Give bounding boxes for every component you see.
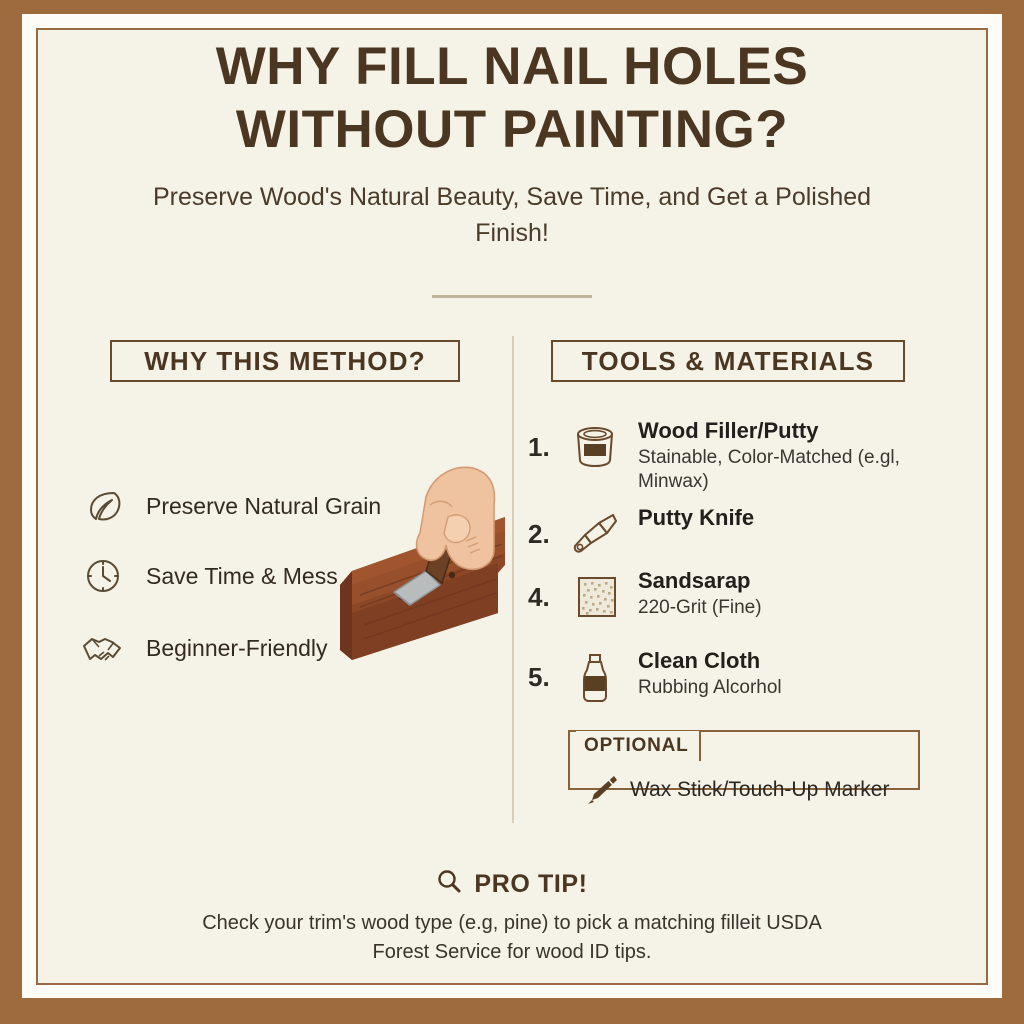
tool-row-clean-cloth: 5. Clean Cloth Rubbing Alcorhol bbox=[528, 648, 928, 706]
putty-knife-icon bbox=[564, 505, 626, 557]
tool-name: Sandsarap bbox=[638, 568, 751, 593]
tool-text: Wood Filler/Putty Stainable, Color-Match… bbox=[638, 418, 916, 494]
header-divider bbox=[432, 295, 592, 298]
bottle-icon bbox=[564, 648, 626, 706]
page-title: WHY FILL NAIL HOLES WITHOUT PAINTING? bbox=[102, 36, 922, 161]
pro-tip-heading: PRO TIP! bbox=[436, 868, 587, 901]
leaf-icon bbox=[80, 483, 126, 529]
tool-desc: Rubbing Alcorhol bbox=[638, 676, 782, 700]
page-subtitle: Preserve Wood's Natural Beauty, Save Tim… bbox=[132, 179, 892, 252]
section-heading-tools-and-materials: TOOLS & MATERIALS bbox=[551, 340, 905, 382]
pro-tip-body: Check your trim's wood type (e.g, pine) … bbox=[192, 909, 832, 967]
benefit-label: Save Time & Mess bbox=[146, 563, 338, 590]
infographic-poster: WHY FILL NAIL HOLES WITHOUT PAINTING? Pr… bbox=[0, 0, 1024, 1024]
tool-text: Putty Knife bbox=[638, 505, 754, 531]
tool-row-sandpaper: 4. San bbox=[528, 568, 928, 622]
tool-text: Clean Cloth Rubbing Alcorhol bbox=[638, 648, 782, 700]
tool-number: 1. bbox=[528, 418, 564, 463]
tool-desc: Stainable, Color-Matched (e.gl, Minwax) bbox=[638, 446, 916, 494]
optional-row-wax-stick: Wax Stick/Touch-Up Marker bbox=[578, 768, 918, 812]
tool-desc: 220-Grit (Fine) bbox=[638, 596, 762, 620]
tool-name: Wood Filler/Putty bbox=[638, 418, 818, 443]
tool-row-putty-knife: 2. Putty Knife bbox=[528, 505, 928, 557]
marker-pen-icon bbox=[578, 771, 622, 809]
poster-header: WHY FILL NAIL HOLES WITHOUT PAINTING? Pr… bbox=[0, 36, 1024, 252]
tool-name: Clean Cloth bbox=[638, 648, 760, 673]
column-divider bbox=[512, 336, 514, 823]
tool-number: 2. bbox=[528, 505, 564, 550]
tool-number: 4. bbox=[528, 568, 564, 613]
tool-number: 5. bbox=[528, 648, 564, 693]
sandpaper-icon bbox=[564, 568, 626, 622]
clock-icon bbox=[80, 553, 126, 599]
handshake-icon bbox=[80, 625, 126, 671]
optional-badge: OPTIONAL bbox=[576, 731, 701, 761]
benefit-label: Beginner-Friendly bbox=[146, 635, 328, 662]
pro-tip-section: PRO TIP! Check your trim's wood type (e.… bbox=[0, 868, 1024, 967]
optional-label: Wax Stick/Touch-Up Marker bbox=[630, 778, 889, 802]
putty-tub-icon bbox=[564, 418, 626, 470]
magnifier-icon bbox=[436, 868, 462, 901]
hand-applying-putty-illustration bbox=[330, 445, 505, 660]
tool-row-wood-filler-putty: 1. Wood Filler/Putty Stainable, Color-Ma… bbox=[528, 418, 928, 494]
tool-name: Putty Knife bbox=[638, 505, 754, 530]
tool-text: Sandsarap 220-Grit (Fine) bbox=[638, 568, 762, 620]
pro-tip-title: PRO TIP! bbox=[474, 870, 587, 899]
section-heading-why-this-method: WHY THIS METHOD? bbox=[110, 340, 460, 382]
